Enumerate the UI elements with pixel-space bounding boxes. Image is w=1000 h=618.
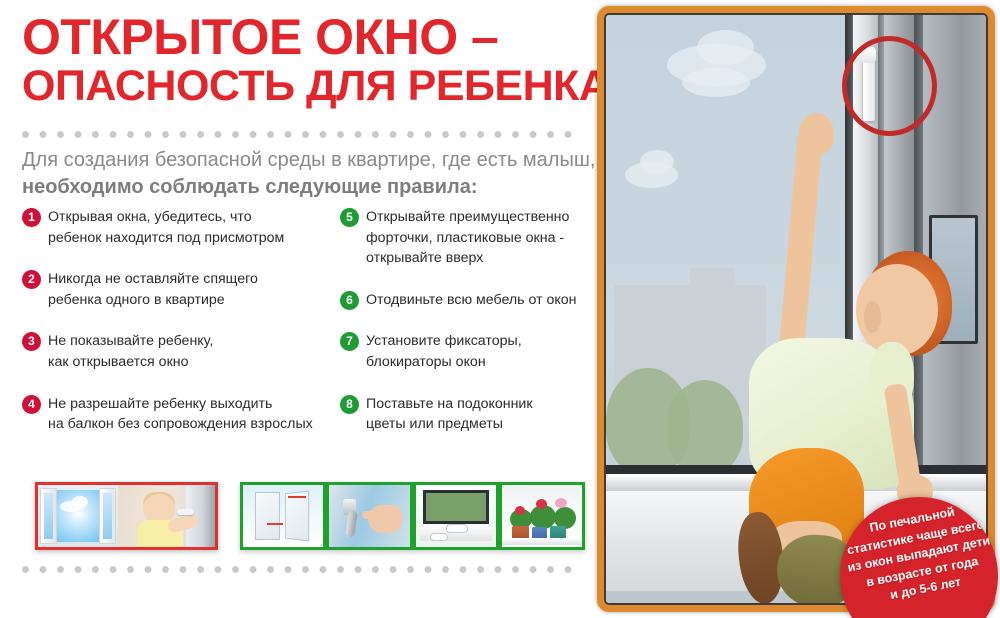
red-flower bbox=[536, 499, 547, 509]
window-pane-opening bbox=[285, 491, 309, 542]
rule-number-badge-3: 3 bbox=[22, 332, 41, 351]
hand-on-handle-photo-thumb bbox=[326, 482, 412, 550]
rule-text-2: Никогда не оставляйте спящего ребенка од… bbox=[48, 269, 322, 310]
rule-text-5: Открывайте преимущественно форточки, пла… bbox=[366, 207, 588, 269]
title-line-2: ОПАСНОСТЬ ДЛЯ РЕБЕНКА! bbox=[22, 66, 582, 107]
window-handle-icon bbox=[177, 509, 194, 515]
windowsill-shape bbox=[502, 538, 582, 545]
photo-strip-green bbox=[240, 482, 585, 550]
subtitle-line-2: необходимо соблюдать следующие правила: bbox=[22, 174, 582, 201]
rotation-arrow-icon bbox=[267, 523, 283, 525]
rule-number-badge-1: 1 bbox=[22, 208, 41, 227]
subtitle-block: Для создания безопасной среды в квартире… bbox=[22, 147, 582, 201]
rule-text-4: Не разрешайте ребенку выходить на балкон… bbox=[48, 394, 322, 435]
rule-number-badge-7: 7 bbox=[340, 332, 359, 351]
rule-item-6: 6 Отодвиньте всю мебель от окон bbox=[340, 290, 588, 311]
cloud-icon bbox=[697, 30, 754, 65]
title-line-1: ОТКРЫТОЕ ОКНО – bbox=[22, 14, 582, 62]
red-flower bbox=[515, 506, 525, 515]
child-ear bbox=[864, 301, 880, 333]
child-hand-on-handle bbox=[799, 113, 835, 154]
handle-lever-shape bbox=[345, 511, 358, 538]
rule-text-6: Отодвиньте всю мебель от окон bbox=[366, 290, 588, 311]
rule-item-5: 5 Открывайте преимущественно форточки, п… bbox=[340, 207, 588, 269]
finger-shape bbox=[362, 511, 378, 519]
rules-column-right: 5 Открывайте преимущественно форточки, п… bbox=[340, 207, 588, 456]
rule-text-8: Поставьте на подоконник цветы или предме… bbox=[366, 394, 588, 435]
cloud-icon bbox=[72, 496, 88, 508]
window-lock-icon bbox=[446, 524, 468, 533]
flowers-on-windowsill-photo-thumb bbox=[499, 482, 585, 550]
page-title: ОТКРЫТОЕ ОКНО – ОПАСНОСТЬ ДЛЯ РЕБЕНКА! bbox=[22, 14, 582, 106]
hand-shape bbox=[368, 505, 402, 533]
window-sash-right bbox=[99, 488, 116, 544]
child-raised-arm bbox=[777, 126, 822, 366]
window-outer-frame bbox=[423, 490, 489, 524]
left-content-panel: ОТКРЫТОЕ ОКНО – ОПАСНОСТЬ ДЛЯ РЕБЕНКА! Д… bbox=[0, 0, 597, 618]
window-lock-icon bbox=[430, 533, 448, 541]
window-pane-fixed bbox=[255, 492, 280, 540]
rule-text-1: Открывая окна, убедитесь, что ребенок на… bbox=[48, 207, 322, 248]
rule-item-1: 1 Открывая окна, убедитесь, что ребенок … bbox=[22, 207, 322, 248]
rules-section: 1 Открывая окна, убедитесь, что ребенок … bbox=[22, 207, 582, 467]
rule-number-badge-4: 4 bbox=[22, 395, 41, 414]
dotted-divider-top bbox=[22, 131, 582, 138]
dotted-divider-bottom bbox=[22, 566, 582, 573]
red-highlight-circle bbox=[842, 36, 937, 136]
rule-item-2: 2 Никогда не оставляйте спящего ребенка … bbox=[22, 269, 322, 310]
rule-text-3: Не показывайте ребенку, как открывается … bbox=[48, 331, 322, 372]
open-window-illustration-thumb bbox=[38, 485, 118, 547]
cloud-icon bbox=[640, 150, 674, 174]
rule-number-badge-6: 6 bbox=[340, 291, 359, 310]
rule-text-7: Установите фиксаторы, блокираторы окон bbox=[366, 331, 588, 372]
rotation-arrow-icon bbox=[288, 496, 306, 498]
window-sash-left bbox=[40, 488, 57, 544]
window-lock-photo-thumb bbox=[413, 482, 499, 550]
rules-column-left: 1 Открывая окна, убедитесь, что ребенок … bbox=[22, 207, 322, 456]
window-opening-diagram-thumb bbox=[240, 482, 326, 550]
poster-root: ОТКРЫТОЕ ОКНО – ОПАСНОСТЬ ДЛЯ РЕБЕНКА! Д… bbox=[0, 0, 1000, 618]
rule-number-badge-2: 2 bbox=[22, 270, 41, 289]
rule-number-badge-5: 5 bbox=[340, 208, 359, 227]
rule-item-3: 3 Не показывайте ребенку, как открываетс… bbox=[22, 331, 322, 372]
rule-item-7: 7 Установите фиксаторы, блокираторы окон bbox=[340, 331, 588, 372]
baby-at-window-photo-thumb bbox=[118, 485, 215, 547]
photo-strip-red bbox=[35, 482, 218, 550]
rule-item-8: 8 Поставьте на подоконник цветы или пред… bbox=[340, 394, 588, 435]
subtitle-line-1: Для создания безопасной среды в квартире… bbox=[22, 147, 582, 174]
pink-flower bbox=[555, 498, 567, 508]
rule-number-badge-8: 8 bbox=[340, 395, 359, 414]
rule-item-4: 4 Не разрешайте ребенку выходить на балк… bbox=[22, 394, 322, 435]
